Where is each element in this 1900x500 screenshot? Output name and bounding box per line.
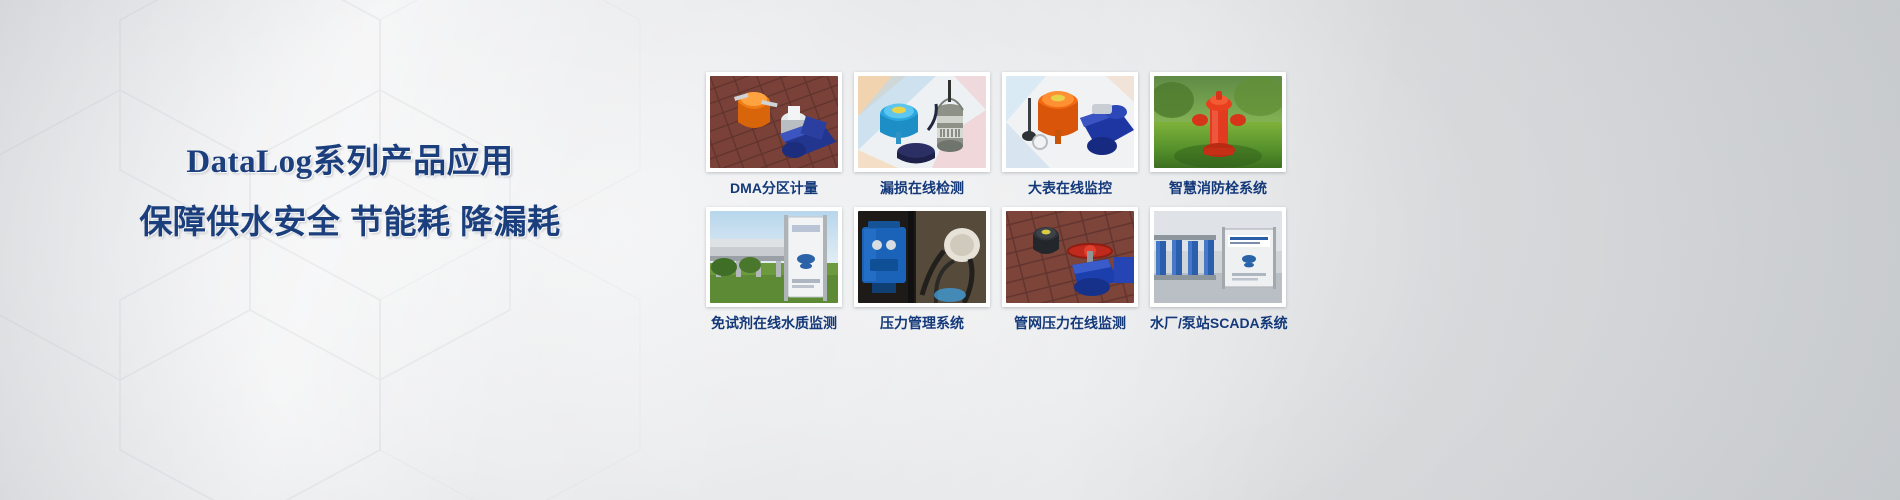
thumbnail-caption: 免试剂在线水质监测 bbox=[706, 314, 842, 332]
grid-item[interactable]: 漏损在线检测 bbox=[854, 72, 990, 197]
smart-hydrant-photo bbox=[1154, 76, 1282, 168]
thumbnail-frame[interactable] bbox=[706, 207, 842, 307]
dma-metering-photo bbox=[710, 76, 838, 168]
thumbnail-caption: 管网压力在线监测 bbox=[1002, 314, 1138, 332]
thumbnail-frame[interactable] bbox=[1002, 72, 1138, 172]
grid-item[interactable]: 管网压力在线监测 bbox=[1002, 207, 1138, 332]
product-thumbnail-grid: DMA分区计量 bbox=[706, 72, 1286, 332]
thumbnail-caption: 大表在线监控 bbox=[1002, 179, 1138, 197]
thumbnail-frame[interactable] bbox=[1150, 72, 1286, 172]
thumbnail-frame[interactable] bbox=[854, 207, 990, 307]
thumbnail-frame[interactable] bbox=[1002, 207, 1138, 307]
grid-item[interactable]: 智慧消防栓系统 bbox=[1150, 72, 1286, 197]
thumbnail-caption: 漏损在线检测 bbox=[854, 179, 990, 197]
headline-block: DataLog系列产品应用 保障供水安全 节能耗 降漏耗 bbox=[0, 142, 700, 242]
reagent-free-water-quality-photo bbox=[710, 211, 838, 303]
thumbnail-caption: 压力管理系统 bbox=[854, 314, 990, 332]
headline-line-2: 保障供水安全 节能耗 降漏耗 bbox=[0, 202, 700, 242]
thumbnail-caption: 水厂/泵站SCADA系统 bbox=[1150, 314, 1286, 332]
large-meter-monitoring-photo bbox=[1006, 76, 1134, 168]
leak-detection-photo bbox=[858, 76, 986, 168]
grid-item[interactable]: 免试剂在线水质监测 bbox=[706, 207, 842, 332]
thumbnail-caption: DMA分区计量 bbox=[706, 179, 842, 197]
thumbnail-caption: 智慧消防栓系统 bbox=[1150, 179, 1286, 197]
pipe-pressure-monitoring-photo bbox=[1006, 211, 1134, 303]
pressure-management-photo bbox=[858, 211, 986, 303]
product-application-banner: DataLog系列产品应用 保障供水安全 节能耗 降漏耗 bbox=[0, 0, 1900, 500]
thumbnail-frame[interactable] bbox=[854, 72, 990, 172]
headline-line-1: DataLog系列产品应用 bbox=[0, 142, 700, 182]
grid-item[interactable]: 大表在线监控 bbox=[1002, 72, 1138, 197]
grid-item[interactable]: DMA分区计量 bbox=[706, 72, 842, 197]
hexagon-pattern-decoration bbox=[0, 0, 760, 500]
scada-system-photo bbox=[1154, 211, 1282, 303]
thumbnail-frame[interactable] bbox=[1150, 207, 1286, 307]
thumbnail-frame[interactable] bbox=[706, 72, 842, 172]
grid-item[interactable]: 压力管理系统 bbox=[854, 207, 990, 332]
grid-item[interactable]: 水厂/泵站SCADA系统 bbox=[1150, 207, 1286, 332]
